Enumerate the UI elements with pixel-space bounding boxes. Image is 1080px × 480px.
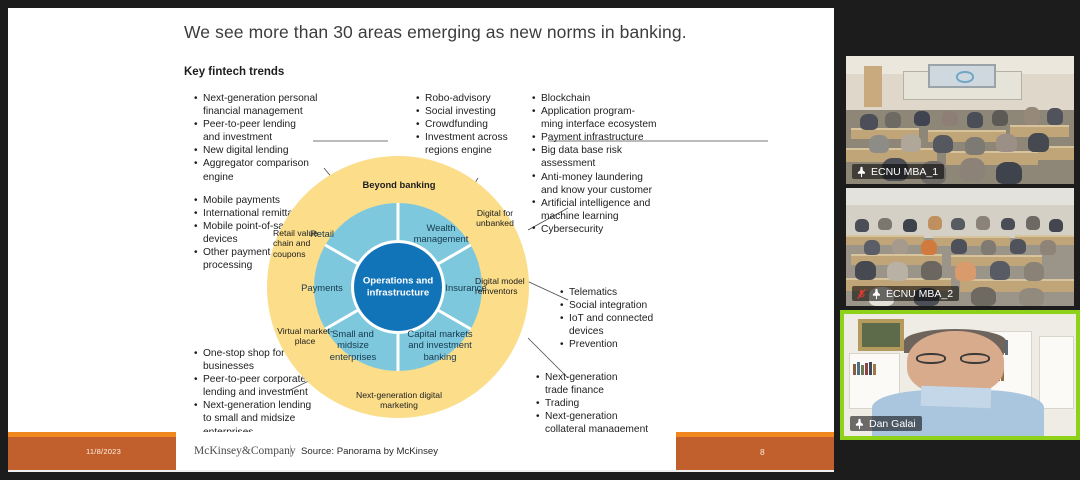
pin-icon (854, 418, 865, 430)
bullet-line: Anti-money laundering (532, 171, 672, 184)
bullet-line: Next-generation (536, 371, 676, 384)
bullet-line: trade finance (536, 384, 676, 397)
pin-icon (871, 288, 882, 300)
bullet-line: assessment (532, 157, 672, 170)
page-number: 8 (760, 447, 765, 457)
footer-bottom-line (8, 470, 834, 472)
bullet-line: machine learning (532, 210, 672, 223)
section-heading: Key fintech trends (184, 66, 284, 78)
bullet-line: Prevention (560, 338, 690, 351)
participant-name-bar: ECNU MBA_2 (852, 286, 959, 301)
bullet-line: Telematics (560, 286, 690, 299)
footer-date: 11/8/2023 (86, 447, 121, 456)
bullet-line: financial management (194, 105, 324, 118)
bullet-line: Next-generation personal (194, 92, 324, 105)
bullet-line: Peer-to-peer lending (194, 118, 324, 131)
bullet-line: Crowdfunding (416, 118, 536, 131)
participant-name-bar: Dan Galai (850, 416, 922, 431)
video-tile-dan-galai[interactable]: Dan Galai (840, 310, 1080, 440)
video-tile-ecnu-mba-1[interactable]: ECNU MBA_1 (846, 56, 1074, 184)
bullet-line: Robo-advisory (416, 92, 536, 105)
bullet-line: Investment across (416, 131, 536, 144)
participant-name: ECNU MBA_1 (871, 166, 938, 178)
bullet-line: and know your customer (532, 184, 672, 197)
slide-footer: 11/8/2023 McKinsey&Company | Source: Pan… (8, 432, 834, 472)
microphone-muted-icon (856, 288, 867, 300)
bullet-group-mid-top: Robo-advisorySocial investingCrowdfundin… (416, 92, 536, 157)
video-tile-ecnu-mba-2[interactable]: ECNU MBA_2 (846, 188, 1074, 306)
bullet-line: ming interface ecosystem (532, 118, 672, 131)
bullet-line: Trading (536, 397, 676, 410)
bullet-group-right-top: BlockchainApplication program-ming inter… (532, 92, 672, 236)
bullet-line: Next-generation (536, 410, 676, 423)
bullet-group-right-mid: TelematicsSocial integrationIoT and conn… (560, 286, 690, 351)
bullet-line: Social investing (416, 105, 536, 118)
bullet-line: Payment infrastructure (532, 131, 672, 144)
shared-slide[interactable]: We see more than 30 areas emerging as ne… (8, 8, 834, 472)
pin-icon (856, 166, 867, 178)
meeting-screen-share-view: We see more than 30 areas emerging as ne… (0, 0, 1080, 480)
bullet-line: Big data base risk (532, 144, 672, 157)
page-title: We see more than 30 areas emerging as ne… (184, 22, 687, 43)
mckinsey-logo-text: McKinsey&Company (194, 445, 296, 457)
bullet-line: Application program- (532, 105, 672, 118)
bullet-line: IoT and connected (560, 312, 690, 325)
bullet-line: devices (560, 325, 690, 338)
banking-ecosystem-donut-diagram: Operations and infrastructure Retail Wea… (267, 156, 529, 418)
participant-name-bar: ECNU MBA_1 (852, 164, 944, 179)
bullet-line: Blockchain (532, 92, 672, 105)
bullet-line: Cybersecurity (532, 223, 672, 236)
footer-source: Source: Panorama by McKinsey (301, 446, 438, 457)
participant-name: Dan Galai (869, 418, 916, 430)
footer-separator: | (289, 444, 292, 456)
bullet-line: Artificial intelligence and (532, 197, 672, 210)
participant-name: ECNU MBA_2 (886, 288, 953, 300)
bullet-line: Social integration (560, 299, 690, 312)
donut-center-label: Operations and infrastructure (354, 275, 442, 298)
bullet-line: and investment (194, 131, 324, 144)
